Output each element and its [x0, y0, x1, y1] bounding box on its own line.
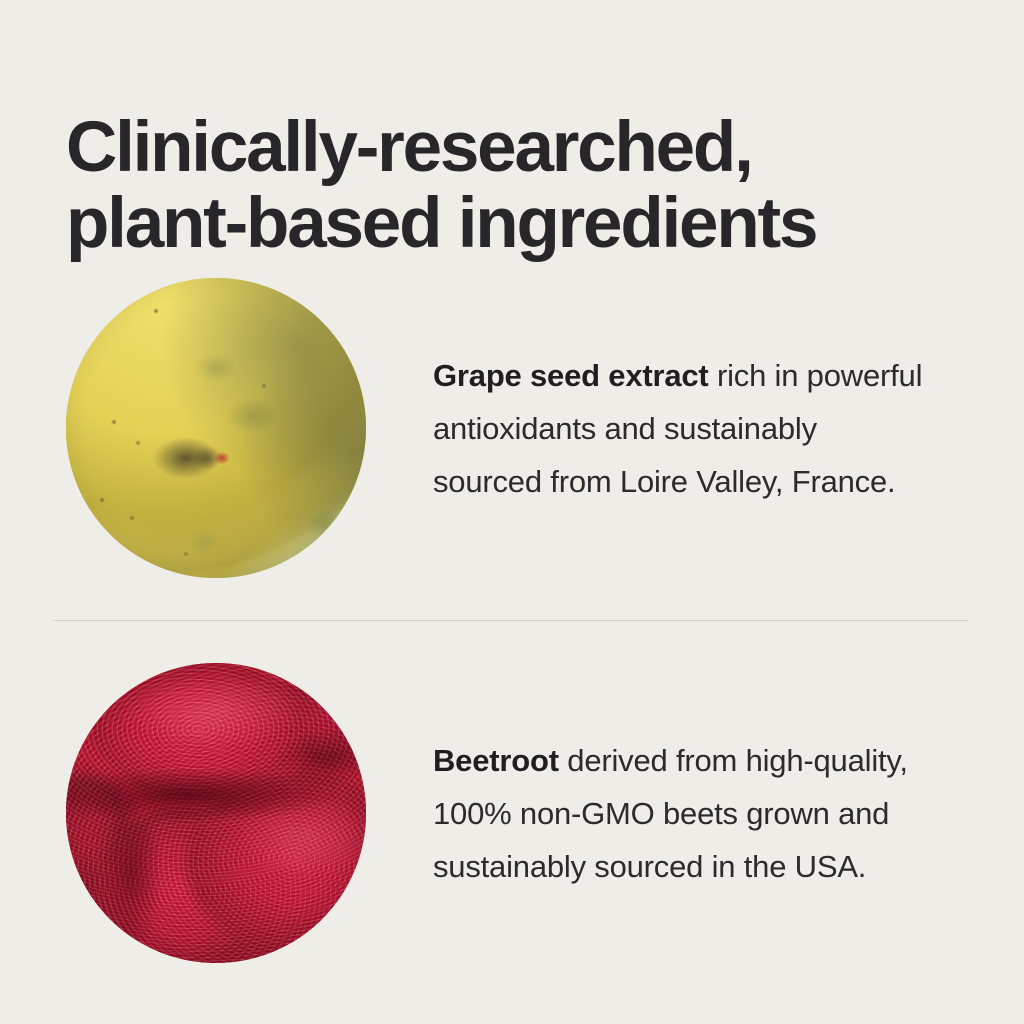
beetroot-label: Beetroot — [433, 743, 559, 778]
ingredients-infographic: Clinically-researched, plant-based ingre… — [0, 0, 1024, 1024]
beetroot-description: Beetroot derived from high-quality, 100%… — [433, 734, 973, 893]
beet-image-shading-layer — [66, 663, 366, 963]
grape-image-shading-layer — [66, 278, 366, 578]
grape-seed-extract-description: Grape seed extract rich in powerful anti… — [433, 349, 973, 508]
beetroot-image — [66, 663, 366, 963]
grape-seed-extract-image — [66, 278, 366, 578]
section-divider — [53, 620, 968, 621]
page-title: Clinically-researched, plant-based ingre… — [66, 110, 986, 262]
grape-seed-extract-label: Grape seed extract — [433, 358, 709, 393]
ingredient-row-grape-seed-extract: Grape seed extract rich in powerful anti… — [0, 278, 1024, 578]
ingredient-row-beetroot: Beetroot derived from high-quality, 100%… — [0, 663, 1024, 963]
